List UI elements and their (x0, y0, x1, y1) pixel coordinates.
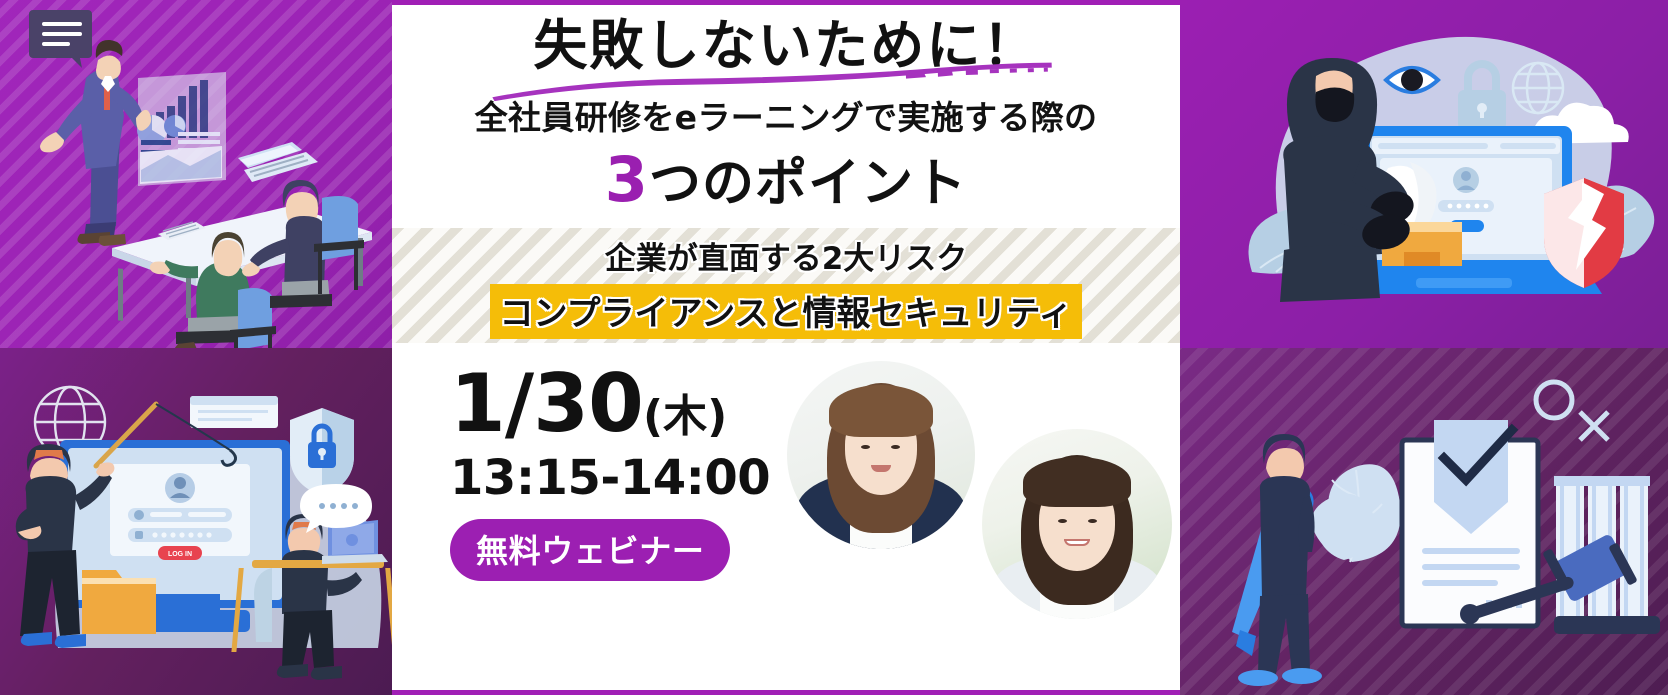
cross-mark-icon (1580, 412, 1608, 440)
subtitle: 全社員研修をeラーニングで実施する際の (392, 91, 1180, 139)
illustration-classroom-training (0, 0, 392, 348)
point-text: つのポイント (649, 154, 967, 214)
risk-band-highlight: コンプライアンスと情報セキュリティ (490, 284, 1083, 339)
speaker-2-bangs (1023, 457, 1131, 507)
schedule-and-speakers: 1/30(木) 13:15-14:00 無料ウェビナー (392, 343, 1180, 690)
speaker-2-smile (1064, 539, 1090, 546)
speaker-1-bangs (829, 385, 933, 437)
login-button[interactable]: LOG IN (158, 546, 202, 560)
schedule-block: 1/30(木) 13:15-14:00 無料ウェビナー (392, 343, 782, 690)
event-date-value: 1/30 (450, 357, 643, 450)
speaker-photos (782, 343, 1180, 690)
risk-band: 企業が直面する2大リスク コンプライアンスと情報セキュリティ (392, 228, 1180, 343)
illustration-hacker-data-theft (1180, 0, 1668, 348)
center-content-card: 失敗しないために！ 全社員研修をeラーニングで実施する際の 3つのポイント 企業… (392, 0, 1180, 695)
login-button-label: LOG IN (168, 551, 192, 558)
hacker-theft-icon (1180, 0, 1668, 348)
circle-mark-icon (1536, 382, 1572, 418)
illustration-compliance-legal (1180, 348, 1668, 695)
page-title: 失敗しないために！ (392, 17, 1180, 75)
webinar-banner: LOG IN (0, 0, 1668, 695)
headline-section: 失敗しないために！ 全社員研修をeラーニングで実施する際の 3つのポイント (392, 5, 1180, 211)
free-webinar-badge[interactable]: 無料ウェビナー (450, 519, 730, 581)
phishing-login-icon: LOG IN (0, 348, 392, 695)
event-day-of-week: (木) (643, 391, 727, 442)
event-date: 1/30(木) (450, 365, 782, 443)
point-number: 3 (605, 143, 649, 216)
speaker-photo-1 (787, 361, 975, 549)
risk-band-heading: 企業が直面する2大リスク (605, 233, 968, 278)
event-time: 13:15-14:00 (450, 450, 782, 506)
compliance-legal-icon (1180, 348, 1668, 695)
speaker-photo-2 (982, 429, 1172, 619)
point-line: 3つのポイント (392, 149, 1180, 211)
illustration-phishing-security: LOG IN (0, 348, 392, 695)
classroom-training-icon (0, 0, 392, 348)
